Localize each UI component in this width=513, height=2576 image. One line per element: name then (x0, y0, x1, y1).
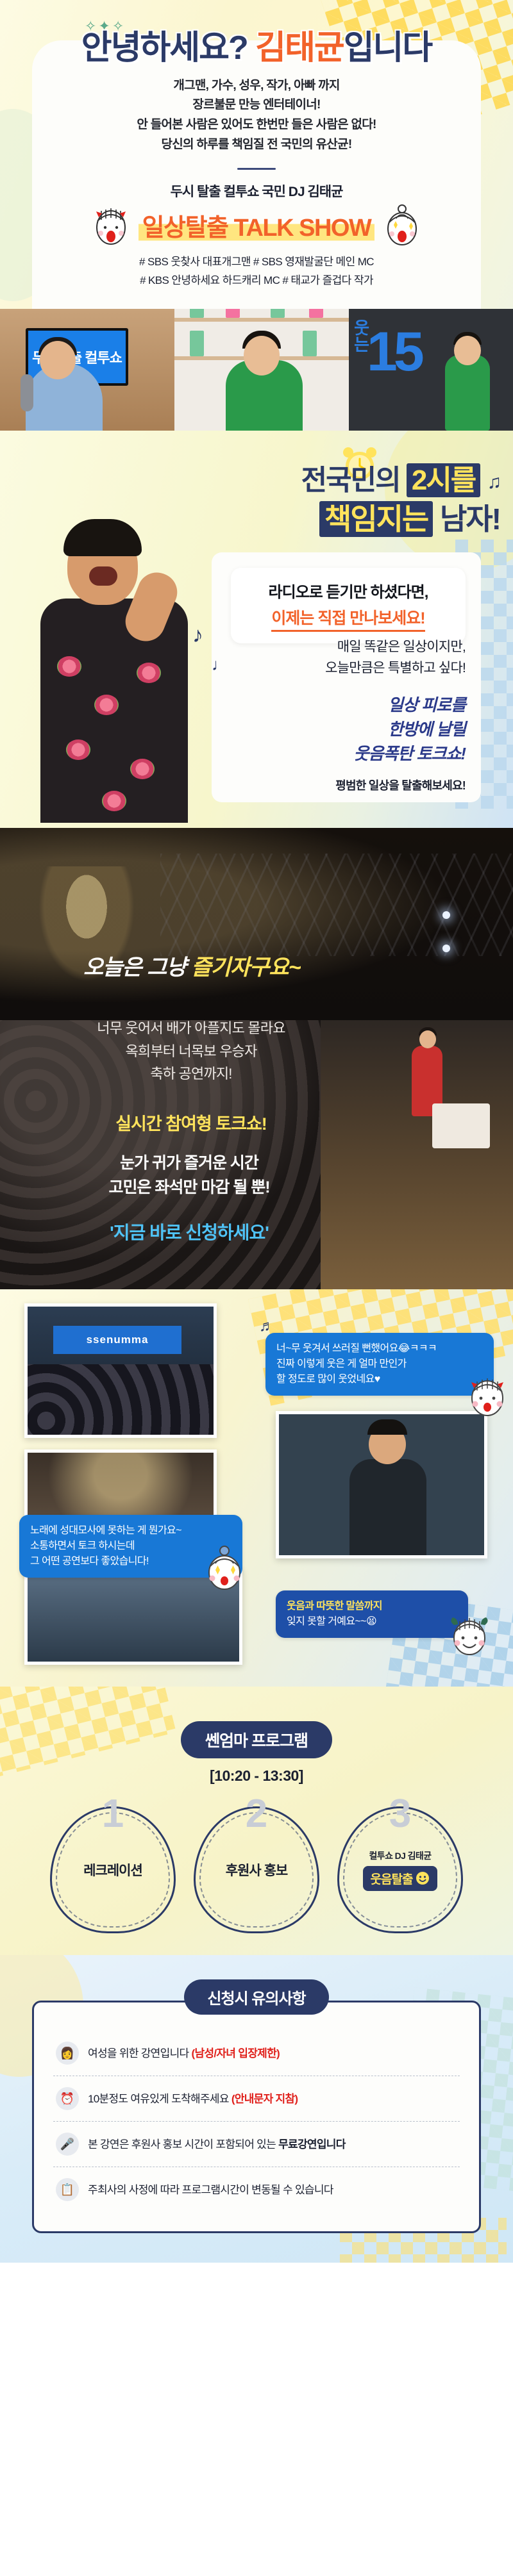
photo-radio-studio: 두시탈출 컬투쇼 (0, 309, 174, 431)
notice-text: 여성을 위한 강연입니다 (남성/자녀 입장제한) (88, 2046, 280, 2061)
bubble-line-2: 이제는 직접 만나보세요! (271, 606, 425, 632)
book (271, 309, 285, 318)
hero-desc-line-1: 개그맨, 가수, 성우, 작가, 아빠 까지 (47, 76, 466, 96)
paragraph-line-1: 매일 똑같은 일상이지만, (231, 637, 466, 658)
white-line-2: 옥희부터 너목보 우승자 (56, 1040, 326, 1062)
flower-pattern (94, 695, 119, 715)
headline-prefix: 전국민의 (301, 465, 400, 496)
section2-script-text: 일상 피로를 한방에 날릴 웃음폭탄 토크쇼! (231, 693, 466, 766)
script-line-3: 웃음폭탄 토크쇼! (231, 742, 466, 766)
paragraph-line-2: 오늘만큼은 특별하고 싶다! (231, 658, 466, 679)
bubble-line-3: 할 정도로 많이 웃었네요♥ (276, 1372, 483, 1387)
section2-headline: 전국민의 2시를 ♫ 책임지는 남자! (83, 464, 500, 537)
head (40, 341, 76, 379)
photo-bookshelf (174, 309, 349, 431)
notice-wrapper: 신청시 유의사항 👩 여성을 위한 강연입니다 (남성/자녀 입장제한) ⏰ 1… (32, 1979, 481, 2233)
head (244, 336, 280, 376)
headline-row-1: 전국민의 2시를 ♫ (83, 464, 500, 498)
head (419, 1030, 436, 1048)
notice-title-badge: 신청시 유의사항 (184, 1979, 328, 2015)
hashtag-line-1: # SBS 웃찾사 대표개그맨 # SBS 영재발굴단 메인 MC (47, 253, 466, 272)
cartoon-face-icon-3 (449, 1610, 490, 1656)
section3-white-text: 너무 웃어서 배가 아플지도 몰라요 옥희부터 너목보 우승자 축하 공연까지! (56, 1017, 326, 1085)
section-3-concert: 오늘은 그냥 즐기자구요~ 너무 웃어서 배가 아플지도 몰라요 옥희부터 너목… (0, 828, 513, 1289)
bubble-line-3: 그 어떤 공연보다 좋았습니다! (30, 1554, 231, 1569)
section3-cta-text: '지금 바로 신청하세요' (38, 1219, 340, 1244)
step-content: 레크레이션 (50, 1806, 176, 1933)
hero-card: 개그맨, 가수, 성우, 작가, 아빠 까지 장르불문 만능 엔터테이너! 안 … (32, 40, 481, 310)
bubble-line-2: 잊지 못할 거예요~~😫 (287, 1614, 457, 1630)
headline-highlight-responsible: 책임지는 (319, 501, 433, 537)
shelf (174, 318, 349, 322)
step-content: 컬투쇼 DJ 김태균 웃음탈출 (337, 1806, 463, 1933)
notice-text-main: 주최사의 사정에 따라 프로그램시간이 변동될 수 있습니다 (88, 2184, 333, 2196)
program-title-badge: 쎈엄마 프로그램 (181, 1721, 332, 1758)
section-6-notices: 신청시 유의사항 👩 여성을 위한 강연입니다 (남성/자녀 입장제한) ⏰ 1… (0, 1955, 513, 2263)
step-label: 후원사 홍보 (226, 1860, 287, 1879)
section2-paragraph: 매일 똑같은 일상이지만, 오늘만큼은 특별하고 싶다! (231, 637, 466, 679)
bubble-line-1: 너~무 웃겨서 쓰러질 뻔했어요😂ㅋㅋㅋ (276, 1341, 483, 1357)
hero-section: ✧✦✧ 안녕하세요? 김태균입니다 개그맨, 가수, 성우, 작가, 아빠 까지… (0, 0, 513, 431)
cartoon-face-icon-2 (204, 1544, 245, 1590)
script-yellow-part: 즐기자구요~ (191, 955, 300, 980)
section2-closing: 평범한 일상을 탈출해보세요! (231, 777, 466, 793)
book (190, 309, 204, 318)
program-step-2[interactable]: 2 후원사 홍보 (194, 1806, 319, 1933)
person-photo-3 (445, 355, 490, 431)
section3-yellow-headline: 실시간 참여형 토크쇼! (56, 1110, 326, 1135)
audience (28, 1364, 214, 1435)
notice-row: 👩 여성을 위한 강연입니다 (남성/자녀 입장제한) (53, 2031, 460, 2076)
microphone-icon (21, 374, 33, 411)
testimonial-bubble-bottom: 웃음과 따뜻한 말씀까지 잊지 못할 거예요~~😫 (276, 1590, 468, 1638)
page-title: 안녕하세요? 김태균입니다 (0, 0, 513, 66)
smile-face-icon (416, 1871, 430, 1885)
stage-number: 15 (367, 320, 421, 384)
cartoon-face-left-icon (92, 204, 130, 247)
checker-pattern-top-left (0, 1687, 176, 1779)
notice-text-highlight: (안내문자 지참) (231, 2093, 298, 2105)
talk-show-title: 일상탈출 TALK SHOW (139, 208, 375, 243)
section-4-testimonials: ssenumma ♬ 너~무 웃겨서 쓰러질 뻔했어요😂ㅋㅋㅋ 진짜 이렇게 웃… (0, 1289, 513, 1687)
white-line-3: 축하 공연까지! (56, 1062, 326, 1085)
section-5-program: 쎈엄마 프로그램 [10:20 - 13:30] 1 레크레이션 2 후원사 홍… (0, 1687, 513, 1955)
photo-stage-set: 웃는 15 (349, 309, 513, 431)
music-note-icon-2: ♪ (192, 623, 203, 648)
photo-speaker (276, 1411, 487, 1558)
notice-text-highlight: (남성/자녀 입장제한) (191, 2047, 280, 2060)
music-note-icon: ♫ (487, 471, 501, 494)
flower-pattern (102, 791, 126, 811)
talk-show-row: 일상탈출 TALK SHOW (47, 204, 466, 247)
event-banner: ssenumma (53, 1326, 181, 1354)
head (454, 336, 481, 365)
notice-text: 주최사의 사정에 따라 프로그램시간이 변동될 수 있습니다 (88, 2183, 333, 2198)
notice-row: 📋 주최사의 사정에 따라 프로그램시간이 변동될 수 있습니다 (53, 2167, 460, 2212)
music-note-icon: ♬ (259, 1317, 274, 1335)
script-line-1: 일상 피로를 (231, 693, 466, 718)
section3-script: 오늘은 그냥 즐기자구요~ (83, 950, 301, 981)
notice-text-main: 본 강연은 후원사 홍보 시간이 포함되어 있는 (88, 2138, 278, 2151)
bubble-line-2: 진짜 이렇게 웃은 게 얼마 만인가 (276, 1357, 483, 1372)
bubble-line-1: 웃음과 따뜻한 말씀까지 (287, 1599, 457, 1614)
flower-pattern (130, 759, 155, 779)
person-photo-1 (26, 363, 103, 431)
flower-pattern (66, 739, 90, 760)
landing-page: ✧✦✧ 안녕하세요? 김태균입니다 개그맨, 가수, 성우, 작가, 아빠 까지… (0, 0, 513, 2263)
white-line-1: 너무 웃어서 배가 아플지도 몰라요 (56, 1017, 326, 1039)
big-line-1: 눈가 귀가 즐거운 시간 (38, 1152, 340, 1176)
notice-row: 🎤 본 강연은 후원사 홍보 시간이 포함되어 있는 무료강연입니다 (53, 2121, 460, 2167)
notice-text-main: 여성을 위한 강연입니다 (88, 2047, 191, 2060)
alarm-clock-icon: ⏰ (56, 2087, 79, 2110)
book (303, 331, 317, 356)
book (190, 331, 204, 356)
book (226, 309, 240, 318)
hero-desc-line-4: 당신의 하루를 책임질 전 국민의 유산균! (47, 135, 466, 155)
hashtag-line-2: # KBS 안녕하세요 하드캐리 MC # 태교가 즐겁다 작가 (47, 272, 466, 290)
notice-box: 👩 여성을 위한 강연입니다 (남성/자녀 입장제한) ⏰ 10분정도 여유있게… (32, 2001, 481, 2233)
hero-subtitle: 두시 탈출 컬투쇼 국민 DJ 김태균 (47, 181, 466, 201)
hero-desc-line-3: 안 들어본 사람은 있어도 한번만 들은 사람은 없다! (47, 115, 466, 135)
section-2-oclock: 전국민의 2시를 ♫ 책임지는 남자! ♪ (0, 431, 513, 828)
hero-title-greeting: 안녕하세요? (81, 29, 248, 67)
body (40, 599, 188, 823)
person-photo-2 (226, 360, 303, 431)
microphone-icon: 🎤 (56, 2133, 79, 2156)
section2-speech-bubble: 라디오로 듣기만 하셨다면, 이제는 직접 만나보세요! (231, 568, 466, 643)
presentation-board-icon: 📋 (56, 2178, 79, 2201)
step-badge-label: 웃음탈출 (371, 1870, 413, 1887)
flower-pattern (57, 656, 81, 677)
notice-text-highlight: 무료강연입니다 (278, 2138, 346, 2151)
step-badge: 웃음탈출 (363, 1866, 438, 1891)
divider (237, 168, 276, 170)
bubble-line-1: 노래에 성대모사에 못하는 게 뭔가요~ (30, 1523, 231, 1539)
bubble-line-2: 소통하면서 토크 하시는데 (30, 1539, 231, 1554)
program-step-1[interactable]: 1 레크레이션 (50, 1806, 176, 1933)
hero-photo-strip: 두시탈출 컬투쇼 (0, 309, 513, 431)
big-line-2: 고민은 좌석만 마감 될 뿐! (38, 1176, 340, 1200)
hero-desc-line-2: 장르불문 만능 엔터테이너! (47, 95, 466, 115)
program-time-range: [10:20 - 13:30] (0, 1767, 513, 1785)
lighting-truss (160, 854, 513, 956)
cartoon-face-right-icon (383, 204, 421, 247)
mouth (89, 566, 117, 586)
body (349, 1459, 426, 1555)
notice-row: ⏰ 10분정도 여유있게 도착해주세요 (안내문자 지참) (53, 2076, 460, 2121)
notice-text: 10분정도 여유있게 도착해주세요 (안내문자 지참) (88, 2092, 298, 2107)
section3-big-text: 눈가 귀가 즐거운 시간 고민은 좌석만 마감 될 뿐! (38, 1152, 340, 1200)
step-caption: 컬투쇼 DJ 김태균 (369, 1849, 432, 1862)
testimonial-bubble-top: 너~무 웃겨서 쓰러질 뻔했어요😂ㅋㅋㅋ 진짜 이렇게 웃은 게 얼마 만인가 … (265, 1333, 494, 1396)
bubble-line-1: 라디오로 듣기만 하셨다면, (244, 579, 453, 602)
hero-title-suffix: 입니다 (344, 29, 432, 67)
stage-table (432, 1103, 490, 1148)
step-label: 레크레이션 (83, 1860, 142, 1879)
script-line-2: 한방에 날릴 (231, 718, 466, 742)
music-note-icon-3: ♩ (212, 655, 228, 675)
notice-text-main: 10분정도 여유있게 도착해주세요 (88, 2093, 231, 2105)
hair (367, 1419, 407, 1435)
step-content: 후원사 홍보 (194, 1806, 319, 1933)
singer-photo (22, 527, 208, 822)
script-white-part: 오늘은 그냥 (83, 955, 186, 980)
hero-description: 개그맨, 가수, 성우, 작가, 아빠 까지 장르불문 만능 엔터테이너! 안 … (47, 76, 466, 155)
flower-pattern (137, 663, 161, 683)
cartoon-face-icon-1 (467, 1371, 508, 1417)
book (309, 309, 323, 318)
headline-suffix: 남자! (440, 502, 500, 536)
hero-title-name: 김태균 (255, 29, 344, 67)
woman-icon: 👩 (56, 2042, 79, 2065)
program-steps: 1 레크레이션 2 후원사 홍보 3 컬투쇼 DJ 김태균 (0, 1806, 513, 1933)
notice-text: 본 강연은 후원사 홍보 시간이 포함되어 있는 무료강연입니다 (88, 2137, 346, 2152)
headline-highlight-time: 2시를 (407, 463, 480, 497)
hashtag-block: # SBS 웃찾사 대표개그맨 # SBS 영재발굴단 메인 MC # KBS … (47, 253, 466, 290)
program-step-3[interactable]: 3 컬투쇼 DJ 김태균 웃음탈출 (337, 1806, 463, 1933)
photo-audience-banner: ssenumma (24, 1303, 217, 1438)
